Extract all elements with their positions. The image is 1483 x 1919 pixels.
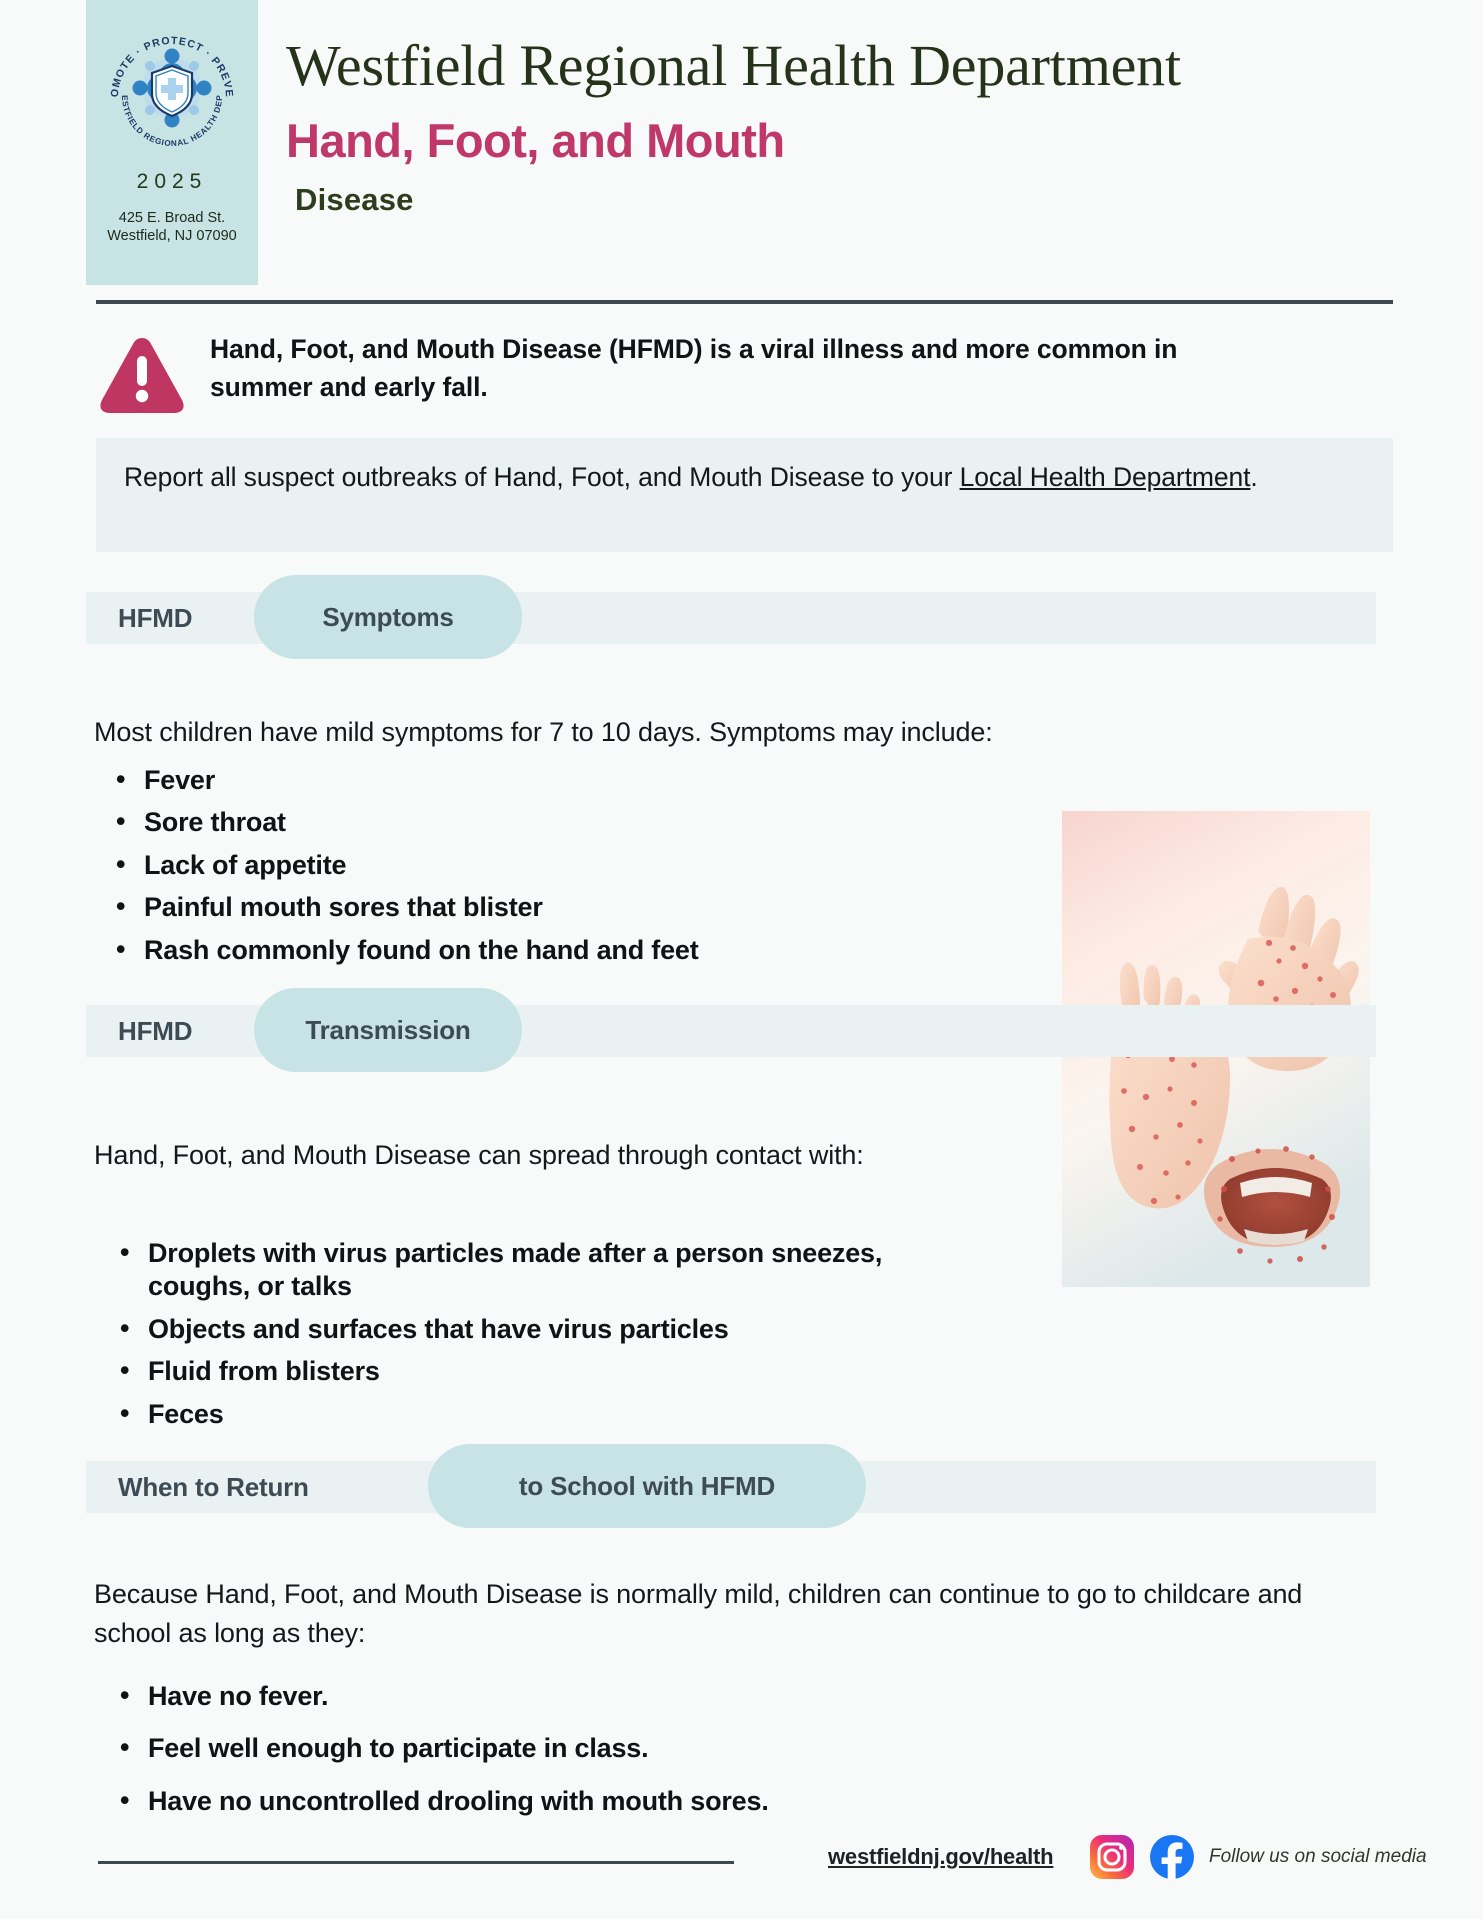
report-prefix: Report all suspect outbreaks of Hand, Fo… [124,462,960,492]
list-item: Have no uncontrolled drooling with mouth… [112,1785,1212,1818]
page-footer: westfieldnj.gov/health [0,1840,1483,1919]
list-item: Feel well enough to participate in class… [112,1732,1212,1765]
list-item: Sore throat [108,806,1038,839]
report-box: Report all suspect outbreaks of Hand, Fo… [96,438,1393,552]
return-to-school-list: Have no fever. Feel well enough to parti… [112,1666,1212,1818]
warning-triangle-icon [96,334,188,416]
section-header-transmission: HFMD Transmission [86,1005,1376,1057]
title-block: Westfield Regional Health Department Han… [286,36,1396,218]
section-pill-return-to-school: to School with HFMD [428,1444,866,1528]
local-health-department-link[interactable]: Local Health Department [960,462,1251,492]
flyer-subtitle-main: Hand, Foot, and Mouth [286,117,1396,164]
section-label-left: HFMD [118,592,192,644]
health-department-seal-icon: PROMOTE · PROTECT · PREVENT WESTFIELD RE… [100,16,244,160]
flyer-subtitle-sub: Disease [295,182,1396,218]
header-divider [96,300,1393,304]
section-pill-symptoms: Symptoms [254,575,522,659]
section-label-left: When to Return [118,1461,309,1513]
list-item: Objects and surfaces that have virus par… [112,1313,972,1346]
list-item: Rash commonly found on the hand and feet [108,934,1038,967]
website-link[interactable]: westfieldnj.gov/health [828,1844,1053,1870]
section-header-return-to-school: When to Return to School with HFMD [86,1461,1376,1513]
report-text: Report all suspect outbreaks of Hand, Fo… [124,458,1365,498]
symptoms-intro: Most children have mild symptoms for 7 t… [94,713,1354,752]
return-to-school-intro: Because Hand, Foot, and Mouth Disease is… [94,1575,1384,1654]
list-item: Feces [112,1398,972,1431]
list-item: Fever [108,764,1038,797]
transmission-list: Droplets with virus particles made after… [112,1228,972,1431]
report-suffix: . [1250,462,1257,492]
flyer-page: PROMOTE · PROTECT · PREVENT WESTFIELD RE… [0,0,1483,1919]
list-item: Droplets with virus particles made after… [112,1237,972,1304]
list-item: Painful mouth sores that blister [108,891,1038,924]
list-item: Have no fever. [112,1680,1212,1713]
alert-banner: Hand, Foot, and Mouth Disease (HFMD) is … [96,330,1396,416]
logo-address: 425 E. Broad St. Westfield, NJ 07090 [107,210,237,245]
facebook-icon[interactable] [1149,1834,1195,1880]
page-header: PROMOTE · PROTECT · PREVENT WESTFIELD RE… [0,0,1483,292]
section-label-left: HFMD [118,1005,192,1057]
footer-divider [98,1861,734,1864]
follow-us-text: Follow us on social media [1209,1846,1427,1868]
address-line-2: Westfield, NJ 07090 [107,228,237,246]
list-item: Fluid from blisters [112,1355,972,1388]
transmission-intro: Hand, Foot, and Mouth Disease can spread… [94,1136,1044,1175]
section-pill-transmission: Transmission [254,988,522,1072]
alert-text: Hand, Foot, and Mouth Disease (HFMD) is … [210,330,1280,407]
logo-year: 2025 [137,170,208,194]
instagram-icon[interactable] [1089,1834,1135,1880]
logo-box: PROMOTE · PROTECT · PREVENT WESTFIELD RE… [86,0,258,285]
symptoms-list: Fever Sore throat Lack of appetite Painf… [108,755,1038,967]
section-header-symptoms: HFMD Symptoms [86,592,1376,644]
address-line-1: 425 E. Broad St. [107,210,237,228]
list-item: Lack of appetite [108,849,1038,882]
department-title: Westfield Regional Health Department [286,36,1396,95]
